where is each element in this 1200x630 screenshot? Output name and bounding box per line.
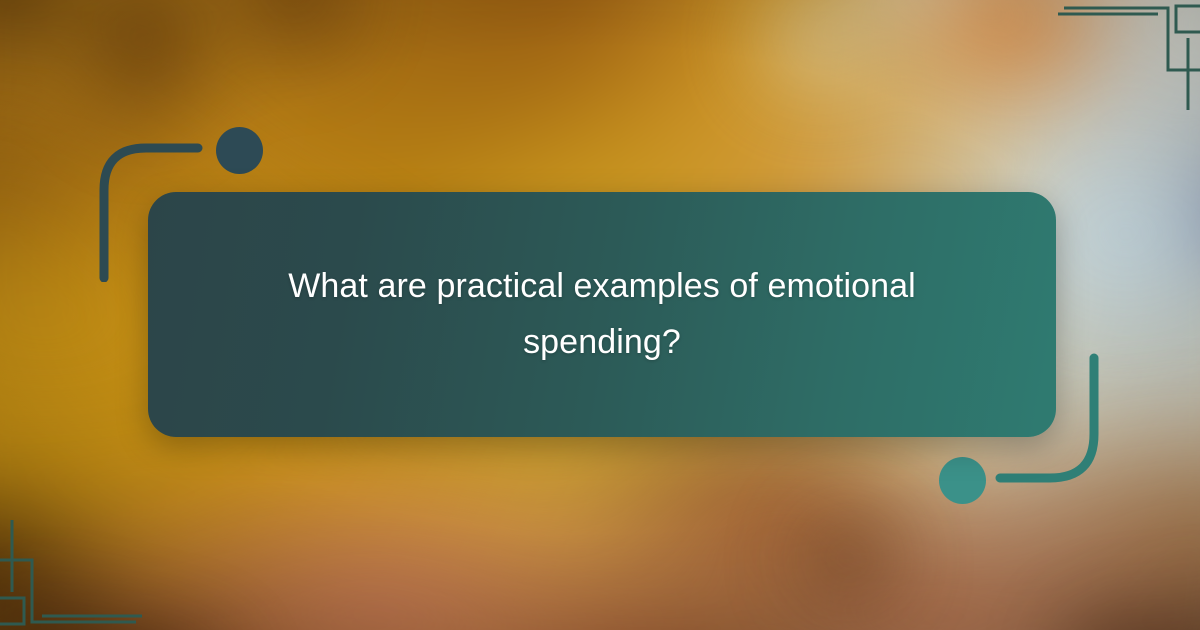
quote-card-question: What are practical examples of emotional… bbox=[198, 259, 1006, 369]
quote-card-canvas: What are practical examples of emotional… bbox=[0, 0, 1200, 630]
decorative-dot-top-left-icon bbox=[216, 127, 263, 174]
quote-card: What are practical examples of emotional… bbox=[148, 192, 1056, 437]
decorative-dot-bottom-right-icon bbox=[939, 457, 986, 504]
